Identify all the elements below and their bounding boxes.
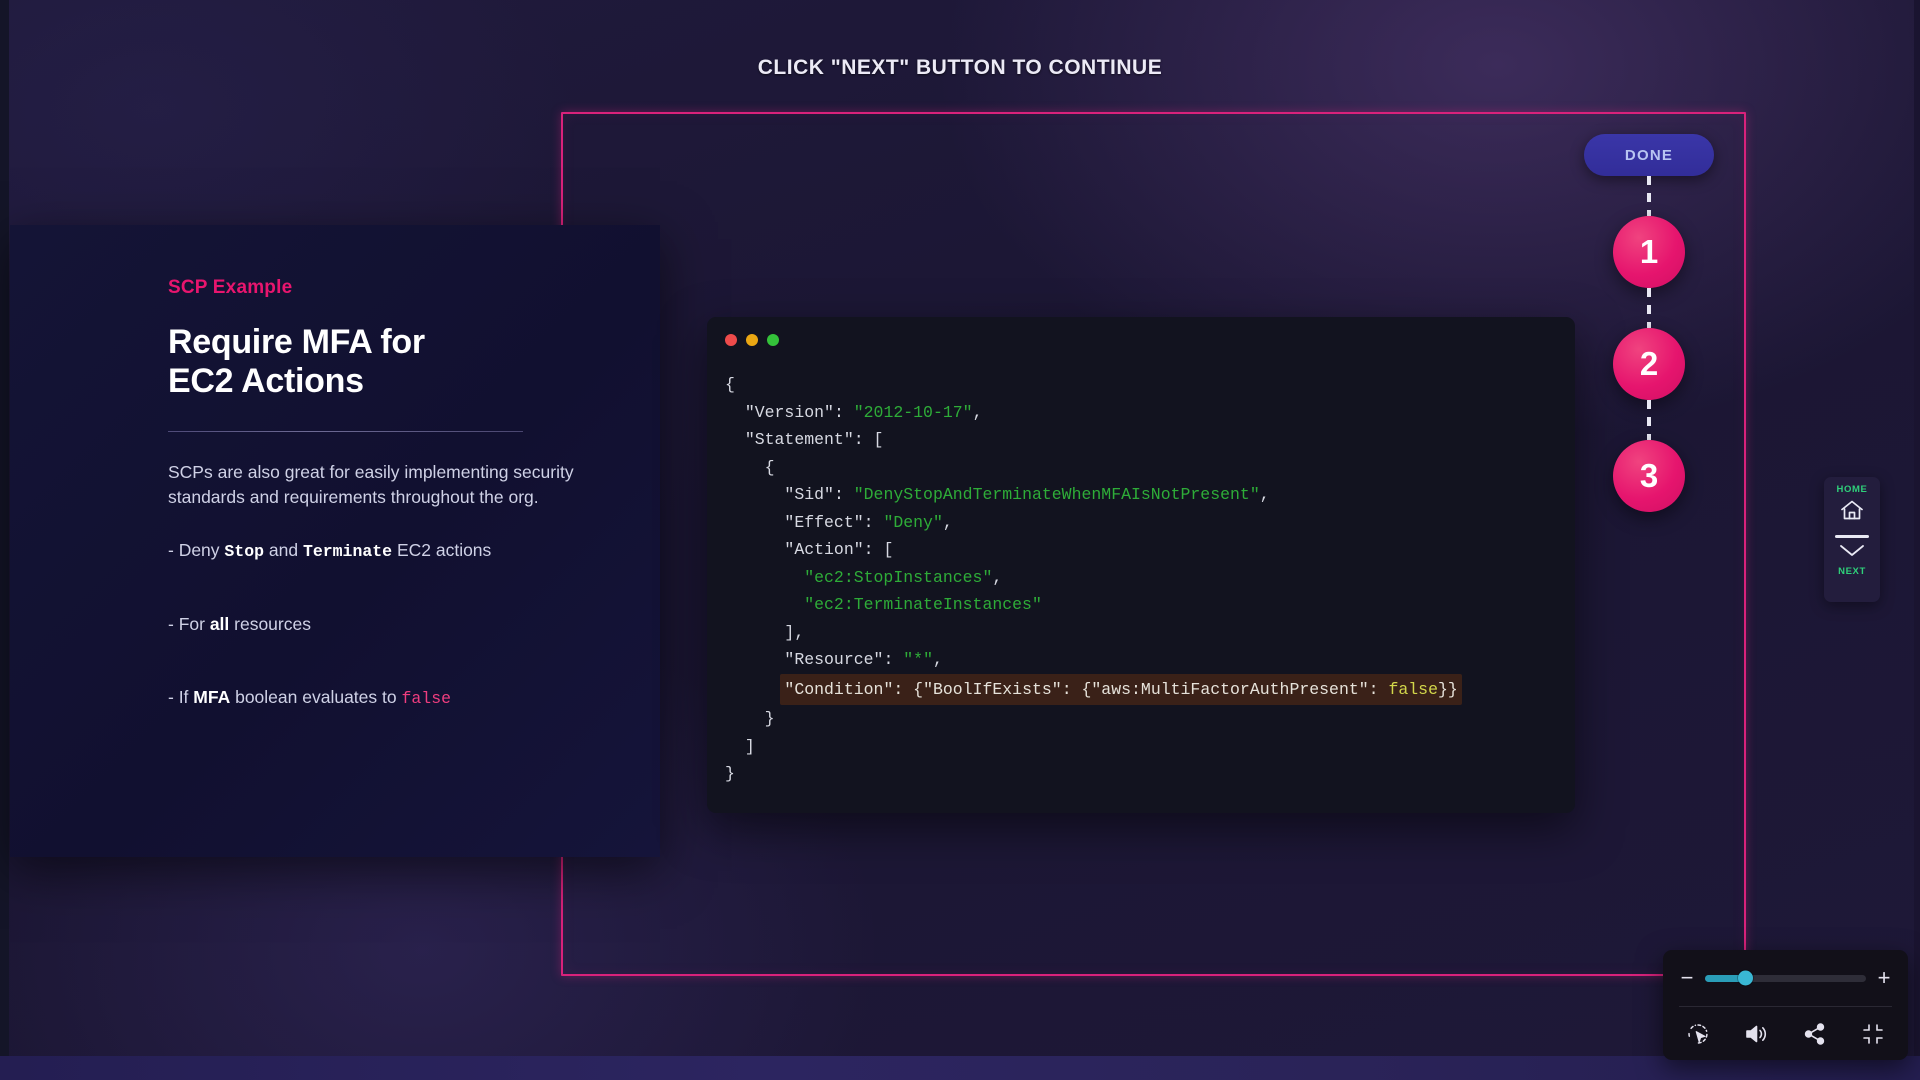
window-minimize-dot[interactable] (746, 334, 758, 346)
next-label: NEXT (1838, 566, 1866, 577)
bullet-item-2: - For all resources (168, 612, 598, 637)
bullet-1-mono-terminate: Terminate (303, 542, 392, 561)
info-card: SCP Example Require MFA for EC2 Actions … (10, 225, 660, 857)
rail-connector-0 (1647, 176, 1651, 216)
code-window-titlebar (707, 317, 1575, 363)
step-circle-1[interactable]: 1 (1613, 216, 1685, 288)
background-bottom-strip (0, 1056, 1920, 1080)
code-line: } (725, 760, 1575, 788)
step-circle-2[interactable]: 2 (1613, 328, 1685, 400)
zoom-slider[interactable] (1705, 975, 1866, 982)
rail-connector-2 (1647, 400, 1651, 440)
card-eyebrow: SCP Example (168, 277, 598, 299)
volume-icon[interactable] (1741, 1019, 1771, 1049)
toolbar-icon-row (1679, 1007, 1892, 1060)
code-line: "Effect": "Deny", (725, 509, 1575, 537)
card-divider (168, 431, 523, 432)
window-close-dot[interactable] (725, 334, 737, 346)
bullet-2-prefix: - For (168, 614, 210, 634)
code-line: } (725, 705, 1575, 733)
card-title: Require MFA for EC2 Actions (168, 323, 598, 401)
code-line: "Version": "2012-10-17", (725, 399, 1575, 427)
code-line: "ec2:TerminateInstances" (725, 591, 1575, 619)
chevron-down-icon[interactable] (1837, 542, 1867, 564)
bullet-1-prefix: - Deny (168, 540, 224, 560)
code-line: "Sid": "DenyStopAndTerminateWhenMFAIsNot… (725, 481, 1575, 509)
code-line: "Statement": [ (725, 426, 1575, 454)
bullet-3-code-false: false (401, 689, 451, 708)
bullet-3-mid: boolean evaluates to (230, 687, 401, 707)
code-block: { "Version": "2012-10-17", "Statement": … (707, 363, 1575, 788)
zoom-slider-handle[interactable] (1738, 971, 1753, 986)
cursor-icon[interactable] (1683, 1019, 1713, 1049)
zoom-row: − + (1679, 950, 1892, 1006)
bullet-item-3: - If MFA boolean evaluates to false (168, 685, 598, 710)
window-maximize-dot[interactable] (767, 334, 779, 346)
background-edge-left (0, 0, 9, 1080)
code-line: ], (725, 619, 1575, 647)
page-title: CLICK "NEXT" BUTTON TO CONTINUE (0, 56, 1920, 80)
code-line: "Action": [ (725, 536, 1575, 564)
bullet-3-bold-mfa: MFA (193, 687, 230, 707)
rail-connector-1 (1647, 288, 1651, 328)
nav-separator (1835, 535, 1869, 538)
share-icon[interactable] (1800, 1019, 1830, 1049)
bullet-2-bold-all: all (210, 614, 229, 634)
code-line: { (725, 371, 1575, 399)
collapse-icon[interactable] (1858, 1019, 1888, 1049)
step-circle-3[interactable]: 3 (1613, 440, 1685, 512)
bottom-toolbar: − + (1663, 950, 1908, 1060)
card-body-text: SCPs are also great for easily implement… (168, 460, 598, 510)
background-edge-right (1914, 0, 1920, 1080)
step-rail: DONE 1 2 3 (1584, 134, 1714, 512)
zoom-in-button[interactable]: + (1876, 967, 1892, 989)
bullet-item-1: - Deny Stop and Terminate EC2 actions (168, 538, 598, 563)
bullet-1-mid: and (264, 540, 303, 560)
code-line: ] (725, 733, 1575, 761)
bullet-1-suffix: EC2 actions (392, 540, 491, 560)
home-label: HOME (1837, 484, 1868, 495)
home-icon[interactable] (1839, 498, 1865, 527)
code-line: "ec2:StopInstances", (725, 564, 1575, 592)
bullet-2-suffix: resources (229, 614, 311, 634)
code-window: { "Version": "2012-10-17", "Statement": … (707, 317, 1575, 813)
code-line: "Condition": {"BoolIfExists": {"aws:Mult… (725, 674, 1575, 706)
bullet-3-prefix: - If (168, 687, 193, 707)
side-nav-widget: HOME NEXT (1824, 477, 1880, 602)
code-line: "Resource": "*", (725, 646, 1575, 674)
code-line: { (725, 454, 1575, 482)
bullet-1-mono-stop: Stop (224, 542, 264, 561)
zoom-out-button[interactable]: − (1679, 967, 1695, 989)
done-button[interactable]: DONE (1584, 134, 1714, 176)
